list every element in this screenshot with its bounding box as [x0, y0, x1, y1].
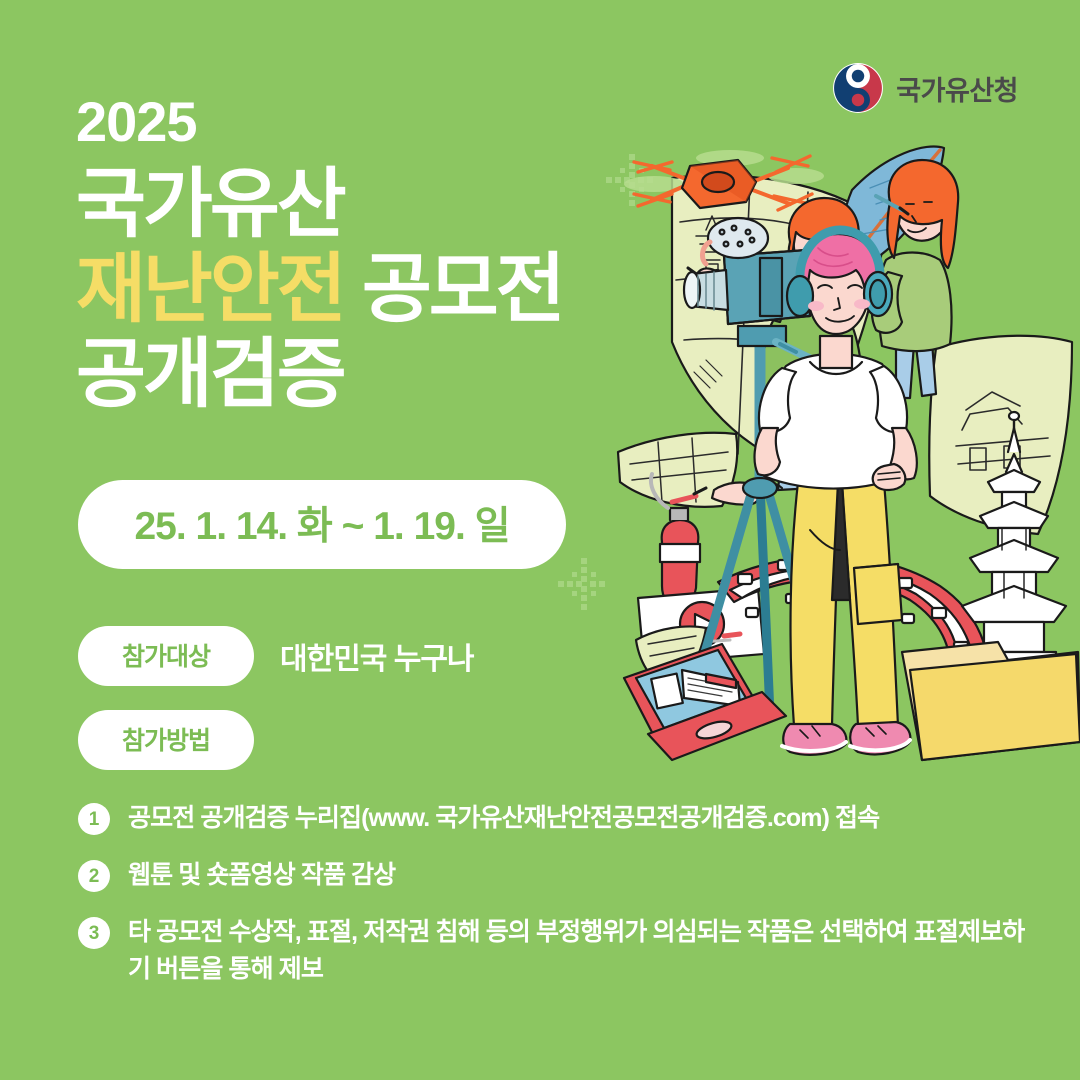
tag-eligibility-label: 참가대상 — [122, 637, 210, 673]
heritage-illustration — [610, 130, 1080, 810]
step-text: 공모전 공개검증 누리집(www. 국가유산재난안전공모전공개검증.com) 접… — [128, 800, 879, 837]
sparkle-2-icon — [556, 556, 612, 617]
step-number-badge: 2 — [78, 860, 110, 892]
taegeuk-symbol-icon — [832, 62, 884, 114]
step-text: 웹툰 및 숏폼영상 작품 감상 — [128, 857, 395, 894]
tag-eligibility: 참가대상 — [78, 626, 254, 686]
agency-logo: 국가유산청 — [832, 62, 1018, 114]
title-line-2: 재난안전 공모전 — [76, 247, 563, 332]
poster-canvas: 국가유산청 2025 국가유산 재난안전 공모전 공개검증 25. 1. 14.… — [0, 0, 1080, 1080]
value-eligibility: 대한민국 누구나 — [280, 634, 474, 678]
title-accent-text: 재난안전 — [76, 247, 344, 332]
tag-method: 참가방법 — [78, 710, 254, 770]
steps-list: 1 공모전 공개검증 누리집(www. 국가유산재난안전공모전공개검증.com)… — [78, 800, 1038, 1008]
tag-method-label: 참가방법 — [122, 721, 210, 757]
agency-name: 국가유산청 — [896, 69, 1018, 108]
year-label: 2025 — [76, 94, 563, 150]
step-item: 2 웹툰 및 숏폼영상 작품 감상 — [78, 857, 1038, 894]
info-row-eligibility: 참가대상 대한민국 누구나 — [78, 626, 474, 686]
title-line-1: 국가유산 — [76, 162, 563, 247]
step-number-badge: 3 — [78, 917, 110, 949]
step-item: 1 공모전 공개검증 누리집(www. 국가유산재난안전공모전공개검증.com)… — [78, 800, 1038, 837]
date-badge-text: 25. 1. 14. 화 ~ 1. 19. 일 — [134, 505, 509, 548]
headline-block: 2025 국가유산 재난안전 공모전 공개검증 — [76, 94, 563, 417]
title-line-2-rest: 공모전 — [362, 247, 563, 332]
step-number-badge: 1 — [78, 803, 110, 835]
info-row-method: 참가방법 — [78, 710, 474, 770]
title-line-3: 공개검증 — [76, 332, 563, 417]
step-text: 타 공모전 수상작, 표절, 저작권 침해 등의 부정행위가 의심되는 작품은 … — [128, 914, 1038, 988]
step-item: 3 타 공모전 수상작, 표절, 저작권 침해 등의 부정행위가 의심되는 작품… — [78, 914, 1038, 988]
info-block: 참가대상 대한민국 누구나 참가방법 — [78, 626, 474, 794]
date-badge: 25. 1. 14. 화 ~ 1. 19. 일 — [78, 480, 566, 569]
